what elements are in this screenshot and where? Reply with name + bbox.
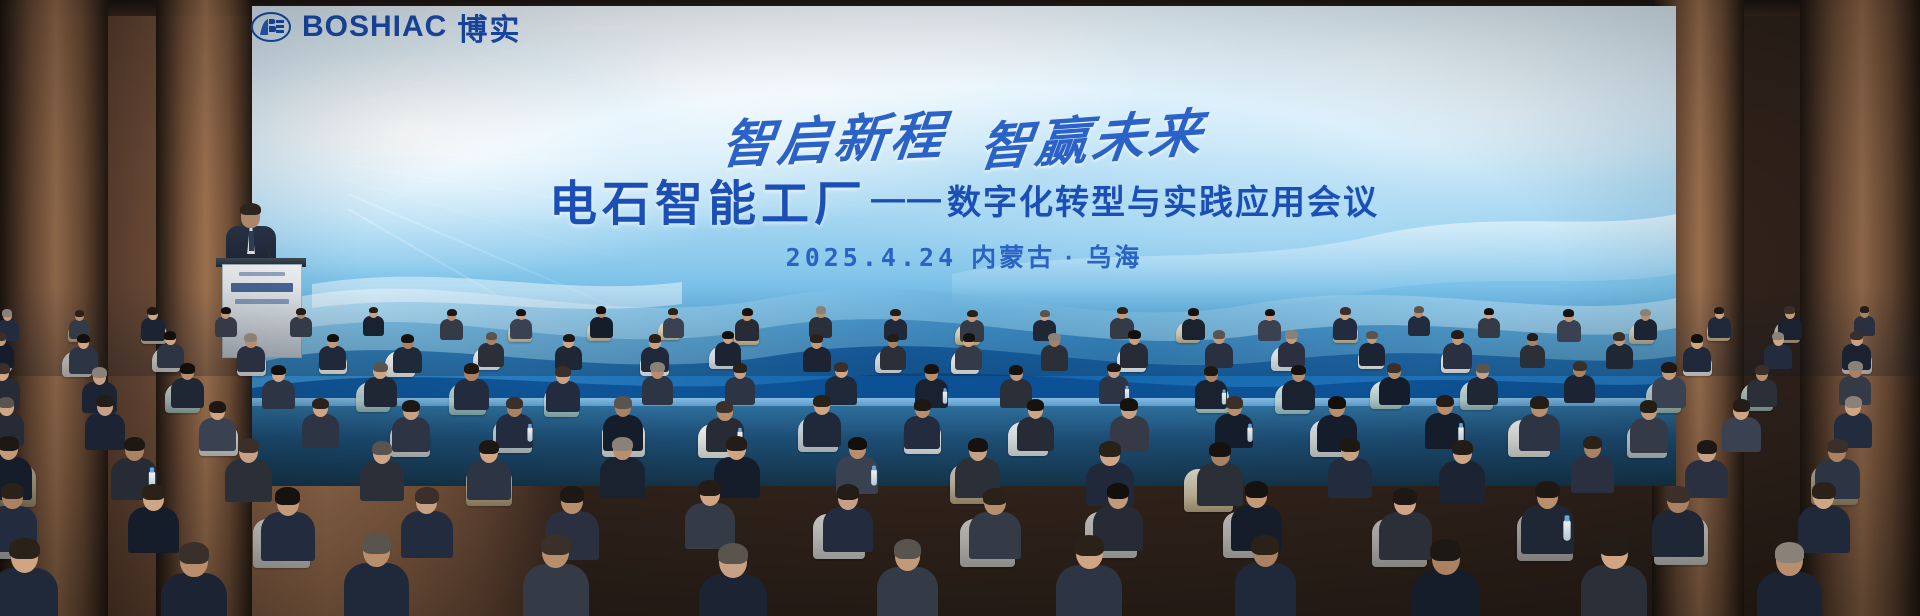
- audience-member-torso: [215, 317, 237, 337]
- audience-member-torso: [360, 461, 404, 501]
- audience-member: [1328, 438, 1372, 496]
- audience-member-hair: [813, 395, 830, 407]
- audience-member: [663, 308, 685, 336]
- audience-member: [0, 538, 58, 616]
- audience-member-hair: [967, 310, 978, 318]
- audience-member-hair: [1733, 399, 1751, 411]
- audience-member: [1282, 365, 1315, 409]
- audience-member-hair: [668, 308, 678, 315]
- audience-member-hair: [837, 484, 860, 500]
- audience-member-hair: [1613, 332, 1625, 341]
- audience-member-hair: [92, 367, 108, 378]
- audience-member: [725, 363, 756, 403]
- audience-member-hair: [1860, 306, 1870, 313]
- audience-member-hair: [1188, 308, 1199, 315]
- audience-member-hair: [1107, 363, 1121, 373]
- audience-member: [880, 334, 906, 368]
- audience-member: [1412, 539, 1480, 616]
- audience-member-torso: [715, 342, 741, 365]
- audience-member: [478, 332, 504, 366]
- audience-member-hair: [1436, 395, 1454, 408]
- audience-member-torso: [0, 568, 58, 616]
- audience-member: [454, 363, 489, 409]
- audience-member-torso: [880, 346, 906, 370]
- audience-member-hair: [887, 334, 899, 342]
- audience-member-hair: [1661, 362, 1676, 373]
- audience-member-hair: [848, 437, 867, 450]
- audience-member-hair: [1027, 399, 1044, 411]
- audience-member-hair: [963, 333, 975, 342]
- audience-member-hair: [1393, 488, 1417, 505]
- audience-member-torso: [969, 512, 1022, 560]
- audience-member-hair: [401, 334, 414, 343]
- audience-member-torso: [1408, 316, 1430, 336]
- audience-member: [128, 484, 178, 550]
- audience-member: [1056, 535, 1122, 616]
- audience-member: [877, 539, 938, 616]
- audience-member-torso: [600, 457, 645, 498]
- audience-member-hair: [1640, 400, 1657, 412]
- audience-member-hair: [733, 363, 747, 373]
- audience-member-hair: [722, 331, 734, 339]
- audience-member-hair: [221, 307, 231, 314]
- audience-member-torso: [1634, 319, 1657, 340]
- audience-member: [1798, 482, 1850, 551]
- conference-photo: 智启新程智赢未来 电石智能工厂——数字化转型与实践应用会议 2025.4.24内…: [0, 0, 1920, 616]
- audience-member-hair: [563, 334, 575, 343]
- audience-member: [1017, 399, 1055, 449]
- audience-member-hair: [1128, 330, 1141, 339]
- audience-member-torso: [877, 567, 938, 616]
- audience-member: [440, 309, 463, 339]
- audience-member: [955, 333, 982, 368]
- audience-member-hair: [77, 334, 90, 343]
- audience-member-torso: [1467, 377, 1498, 406]
- audience-member-torso: [467, 460, 512, 500]
- audience-member-hair: [1827, 439, 1847, 453]
- audience-member-hair: [516, 309, 526, 316]
- audience-member: [699, 543, 767, 616]
- audience-member-torso: [955, 346, 982, 370]
- audience-member-hair: [1209, 442, 1230, 457]
- audience-member-torso: [1041, 345, 1069, 370]
- audience-member-torso: [1205, 343, 1233, 368]
- audience-member-hair: [1784, 306, 1795, 314]
- audience-member-hair: [296, 308, 306, 315]
- audience-member-hair: [142, 484, 165, 500]
- audience-member-hair: [96, 395, 114, 408]
- audience-member-hair: [1772, 332, 1784, 341]
- audience-member-torso: [1412, 570, 1480, 616]
- audience-member: [904, 399, 940, 447]
- audience-member: [1581, 535, 1647, 616]
- screen-title-row: 电石智能工厂——数字化转型与实践应用会议: [252, 164, 1676, 234]
- screen-title-dash: ——: [867, 180, 943, 218]
- audience-member-hair: [1775, 542, 1805, 563]
- audience-member-torso: [523, 564, 589, 616]
- audience-member-hair: [1226, 396, 1243, 408]
- audience-member-hair: [596, 306, 606, 313]
- audience-member-hair: [362, 533, 392, 554]
- audience-member: [1630, 400, 1668, 450]
- audience-member: [1519, 396, 1560, 449]
- audience-member-hair: [968, 438, 988, 452]
- audience-member-hair: [834, 362, 848, 372]
- water-bottle: [1247, 427, 1252, 442]
- audience-member-hair: [275, 487, 299, 504]
- audience-member-torso: [904, 416, 940, 449]
- audience-member-hair: [0, 397, 14, 409]
- audience-member-hair: [486, 332, 498, 340]
- audience-member: [1571, 436, 1613, 492]
- audience-member-hair: [1845, 396, 1862, 408]
- audience-member: [642, 362, 673, 403]
- audience-member-torso: [823, 507, 873, 552]
- audience-member-hair: [124, 437, 145, 452]
- audience-member-hair: [612, 437, 632, 451]
- audience-member-hair: [1535, 481, 1559, 498]
- audience-member-hair: [9, 538, 39, 559]
- audience-member-hair: [1245, 481, 1268, 497]
- audience-member-hair: [1009, 365, 1023, 375]
- audience-member: [1467, 363, 1498, 404]
- audience-member: [1333, 307, 1357, 339]
- audience-member: [1652, 486, 1704, 555]
- audience-member: [1379, 363, 1410, 404]
- audience-member-torso: [1235, 563, 1296, 616]
- audience-member-hair: [1714, 307, 1724, 314]
- audience-member: [1757, 542, 1822, 616]
- screen-date-row: 2025.4.24内蒙古 · 乌海: [252, 238, 1676, 274]
- screen-subtitle: 数字化转型与实践应用会议: [943, 184, 1379, 222]
- audience-member: [823, 484, 873, 550]
- audience-member: [1564, 361, 1595, 401]
- audience-member-torso: [1581, 565, 1647, 616]
- audience-member: [261, 487, 315, 558]
- audience-member-hair: [890, 309, 900, 316]
- audience-member: [1708, 307, 1731, 337]
- audience-member-hair: [238, 438, 259, 453]
- audience-member: [364, 362, 397, 406]
- audience-member-hair: [180, 363, 195, 374]
- audience-member-hair: [541, 534, 571, 555]
- audience-member-hair: [1476, 363, 1490, 373]
- audience-member-hair: [1204, 366, 1218, 376]
- audience-member-torso: [1328, 458, 1372, 498]
- audience-member-hair: [649, 334, 662, 343]
- audience-member-torso: [454, 379, 489, 411]
- audience-member-hair: [1599, 535, 1629, 556]
- audience-member: [969, 488, 1022, 557]
- audience-member-torso: [590, 317, 613, 338]
- audience-member-torso: [1182, 319, 1205, 340]
- event-location: 内蒙古 · 乌海: [957, 244, 1142, 272]
- logo-english-text: BOSHIAC: [302, 10, 447, 44]
- audience-member-torso: [344, 563, 409, 616]
- audience-member: [1278, 330, 1305, 366]
- audience-member-hair: [1451, 330, 1464, 339]
- audience-member-hair: [1850, 331, 1863, 340]
- audience-member-torso: [1571, 455, 1613, 494]
- audience-member: [1557, 309, 1581, 341]
- audience-member-torso: [290, 317, 311, 336]
- audience-member-hair: [1366, 331, 1378, 339]
- logo-chinese-text: 博实: [457, 5, 521, 49]
- audience-member-hair: [1691, 334, 1704, 343]
- audience-member: [1235, 535, 1296, 616]
- audience-member-torso: [1520, 345, 1546, 368]
- audience-member-hair: [312, 398, 329, 410]
- audience-member-hair: [1328, 396, 1346, 409]
- audience-member-hair: [1340, 438, 1360, 452]
- audience-member-torso: [1708, 317, 1731, 338]
- audience-member: [262, 365, 295, 408]
- audience-member-hair: [209, 401, 226, 413]
- audience-member-hair: [0, 332, 6, 340]
- audience-member: [1520, 333, 1546, 367]
- audience-member-hair: [0, 436, 19, 451]
- audience-member: [715, 331, 741, 365]
- audience-member-hair: [1117, 307, 1128, 315]
- audience-member: [363, 307, 384, 335]
- audience-member: [467, 440, 512, 499]
- audience-member-torso: [1278, 342, 1305, 367]
- audience-member-hair: [614, 396, 632, 409]
- audience-member-torso: [642, 376, 673, 404]
- audience-member-hair: [718, 543, 749, 565]
- audience-member: [1120, 330, 1148, 367]
- audience-member: [319, 334, 346, 369]
- audience-member: [1764, 332, 1791, 368]
- audience-member-torso: [699, 574, 767, 616]
- audience-member-hair: [924, 364, 939, 374]
- audience-member-hair: [147, 307, 158, 315]
- audience-member: [685, 480, 736, 547]
- audience-member-torso: [1557, 320, 1581, 342]
- audience-member-hair: [914, 399, 930, 411]
- audience-member: [1634, 309, 1657, 340]
- audience-member-torso: [1478, 318, 1500, 338]
- audience-member-hair: [726, 436, 747, 451]
- audience-member: [1478, 308, 1500, 337]
- audience-member-torso: [1439, 461, 1485, 503]
- audience-member-hair: [447, 309, 457, 316]
- audience-member-torso: [1282, 380, 1315, 410]
- speaker-tie: [249, 231, 254, 251]
- audience-member-torso: [262, 380, 295, 410]
- audience-member-hair: [1452, 440, 1473, 455]
- audience-member-hair: [479, 440, 499, 454]
- audience-member-torso: [363, 316, 384, 335]
- audience-member-hair: [1414, 306, 1424, 313]
- audience-member-hair: [1107, 483, 1130, 499]
- audience-member-hair: [810, 334, 823, 343]
- audience-member: [600, 437, 645, 496]
- audience-member-hair: [179, 542, 209, 563]
- audience-member: [1041, 333, 1069, 370]
- audience-member-torso: [261, 512, 315, 561]
- audience-member-hair: [1048, 333, 1061, 342]
- audience-member-hair: [1430, 539, 1461, 561]
- audience-member-hair: [2, 309, 12, 316]
- audience-member-torso: [546, 381, 580, 412]
- boshiac-logo: BOSHIAC 博实: [250, 4, 521, 50]
- audience-member-hair: [1583, 436, 1602, 450]
- audience-member-torso: [1564, 375, 1595, 403]
- water-bottle: [1564, 520, 1571, 541]
- audience-member-hair: [1265, 309, 1275, 316]
- audience-member-hair: [1527, 333, 1539, 341]
- audience-member-hair: [1213, 330, 1226, 339]
- audience-member-hair: [742, 308, 753, 316]
- audience-member: [555, 334, 582, 369]
- audience-member: [809, 306, 832, 337]
- audience-member-torso: [1333, 318, 1357, 340]
- audience-member-hair: [1099, 441, 1121, 456]
- audience-member-torso: [1017, 417, 1055, 451]
- audience-member-torso: [393, 347, 422, 373]
- audience-member-torso: [1652, 510, 1704, 558]
- audience-member-hair: [506, 397, 523, 409]
- audience-member: [237, 333, 266, 371]
- audience-member-hair: [1666, 486, 1690, 503]
- audience-member-hair: [1120, 398, 1138, 410]
- audience-member-torso: [1630, 418, 1668, 453]
- audience-member: [393, 334, 422, 372]
- audience-member-hair: [1563, 309, 1574, 317]
- screen-calligraphy-slogan: 智启新程智赢未来: [252, 98, 1676, 173]
- audience-member-torso: [302, 414, 339, 447]
- audience-member-torso: [510, 319, 532, 339]
- audience-member-hair: [244, 333, 257, 342]
- audience-member: [1182, 308, 1205, 339]
- audience-member-hair: [1848, 361, 1862, 371]
- audience-area: [0, 286, 1920, 616]
- audience-member: [290, 308, 311, 336]
- audience-member-hair: [1074, 535, 1104, 556]
- audience-member: [360, 441, 404, 500]
- audience-member-torso: [1757, 572, 1822, 616]
- audience-member: [161, 542, 228, 616]
- audience-member-hair: [1285, 330, 1297, 339]
- water-bottle: [527, 427, 532, 441]
- audience-member-hair: [1, 483, 24, 499]
- audience-member-hair: [816, 306, 827, 313]
- audience-member-hair: [1291, 365, 1306, 376]
- speaker-hair: [240, 203, 261, 215]
- boshiac-circular-emblem-icon: [250, 11, 292, 43]
- audience-member-hair: [1340, 307, 1351, 315]
- audience-member-hair: [0, 363, 10, 374]
- audience-member-hair: [1040, 310, 1050, 317]
- audience-member: [510, 309, 532, 338]
- audience-member-hair: [1251, 535, 1279, 555]
- audience-member-hair: [650, 362, 664, 372]
- audience-member-torso: [319, 346, 346, 370]
- audience-member: [344, 533, 409, 616]
- audience-member-hair: [555, 366, 570, 377]
- audience-member-hair: [716, 401, 733, 413]
- audience-member: [1683, 334, 1711, 371]
- audience-member: [1359, 331, 1385, 365]
- audience-member: [1205, 330, 1233, 366]
- audience-member-hair: [464, 363, 480, 374]
- audience-member-hair: [402, 400, 419, 412]
- audience-member-torso: [1379, 377, 1410, 405]
- audience-member: [523, 534, 589, 616]
- audience-member-hair: [1697, 440, 1716, 454]
- audience-member-torso: [440, 319, 463, 340]
- audience-member-torso: [161, 573, 228, 616]
- podium-label-top: [239, 272, 285, 276]
- audience-member-hair: [1812, 482, 1836, 499]
- audience-member-hair: [1530, 396, 1548, 409]
- audience-member-torso: [1056, 565, 1122, 616]
- audience-member-hair: [75, 310, 85, 317]
- audience-member: [1606, 332, 1633, 368]
- audience-member-torso: [1606, 344, 1633, 369]
- audience-member: [157, 331, 184, 367]
- audience-member-hair: [1755, 365, 1769, 375]
- event-date: 2025.4.24: [786, 243, 957, 272]
- audience-member: [215, 307, 237, 336]
- audience-member: [302, 398, 339, 446]
- audience-member-hair: [894, 539, 922, 558]
- audience-member-hair: [1484, 308, 1494, 315]
- audience-member-hair: [1573, 361, 1587, 371]
- audience-member-torso: [1683, 347, 1711, 372]
- audience-member-hair: [164, 331, 176, 340]
- audience-member-hair: [560, 486, 584, 503]
- audience-member-hair: [373, 362, 388, 373]
- audience-member-hair: [327, 334, 339, 343]
- audience-member-hair: [698, 480, 721, 496]
- audience-member-hair: [372, 441, 392, 455]
- audience-member-hair: [983, 488, 1007, 505]
- audience-member-hair: [1387, 363, 1401, 373]
- audience-member: [546, 366, 580, 410]
- audience-member: [590, 306, 613, 336]
- audience-member-hair: [369, 307, 379, 314]
- audience-member: [1439, 440, 1485, 501]
- audience-member-hair: [271, 365, 286, 375]
- water-bottle: [871, 470, 877, 486]
- water-bottle: [943, 391, 947, 404]
- audience-member-torso: [237, 346, 266, 372]
- audience-member-torso: [1519, 414, 1560, 451]
- audience-member-hair: [415, 487, 439, 504]
- audience-member-hair: [1640, 309, 1651, 316]
- screen-main-title: 电石智能工厂: [549, 178, 867, 231]
- audience-member: [1408, 306, 1430, 335]
